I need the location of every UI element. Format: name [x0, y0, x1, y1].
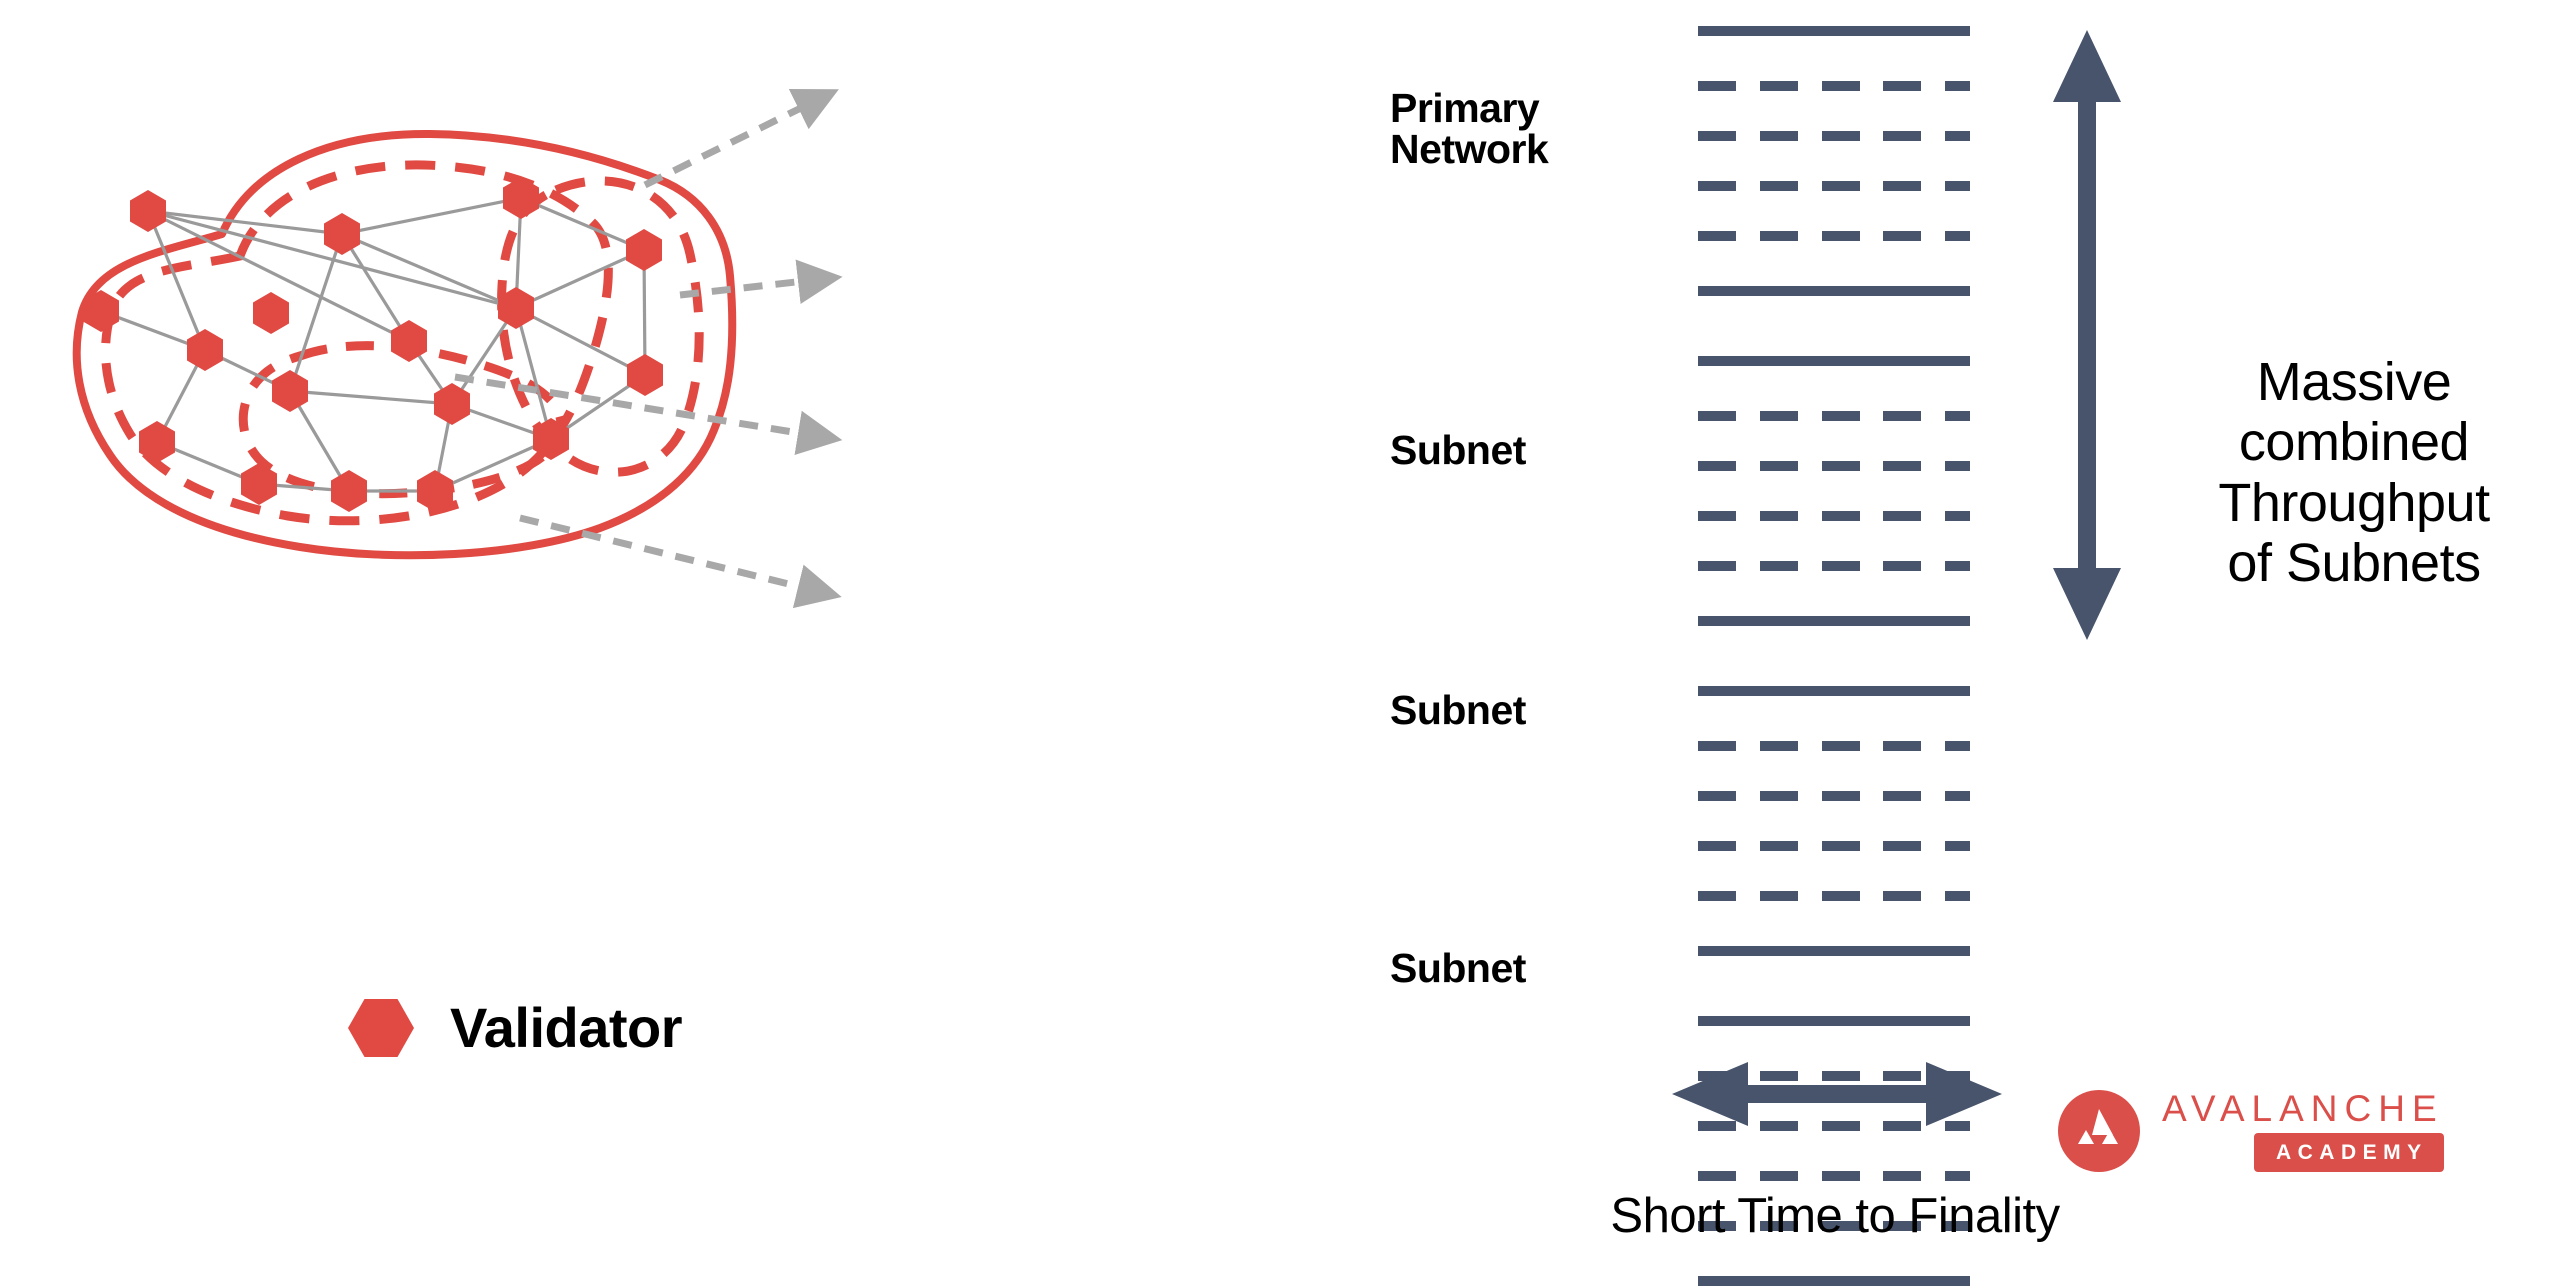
validator-node[interactable] [391, 320, 427, 362]
block-boundary-line [1698, 286, 1970, 296]
transaction-dash [1698, 791, 1736, 801]
callout-label-subnet-2: Subnet [1390, 690, 1526, 731]
transaction-dash-gap [1798, 131, 1822, 141]
hexagon-icon [348, 999, 414, 1057]
transaction-dash [1945, 561, 1970, 571]
transaction-dash [1698, 841, 1736, 851]
avalanche-triangle-icon [2058, 1090, 2140, 1172]
chain-spacer [1698, 1131, 1970, 1171]
chain-spacer [1698, 751, 1970, 791]
block-boundary-line [1698, 686, 1970, 696]
callout-label-subnet-3: Subnet [1390, 948, 1526, 989]
transaction-dash [1698, 231, 1736, 241]
horizontal-double-arrow-icon [1672, 1058, 2002, 1130]
transaction-dash [1883, 181, 1920, 191]
transaction-dash [1698, 131, 1736, 141]
transaction-dash [1698, 561, 1736, 571]
validator-network-graph [0, 0, 1300, 1000]
transaction-dash-gap [1860, 841, 1884, 851]
chain-spacer [1698, 471, 1970, 511]
finality-label: Short Time to Finality [1540, 1188, 2130, 1244]
block-boundary-line [1698, 1276, 1970, 1286]
transaction-dash [1760, 411, 1798, 421]
transaction-dash-gap [1921, 231, 1946, 241]
transaction-dash [1822, 461, 1860, 471]
transaction-dash [1822, 791, 1860, 801]
transaction-dash [1822, 181, 1860, 191]
transaction-dash [1760, 461, 1798, 471]
transaction-row [1698, 841, 1970, 851]
chain-spacer [1698, 191, 1970, 231]
validator-node[interactable] [324, 213, 360, 255]
transaction-dash-gap [1921, 461, 1946, 471]
transaction-dash [1945, 461, 1970, 471]
throughput-label: Massive combined Throughput of Subnets [2168, 352, 2540, 594]
transaction-dash [1760, 561, 1798, 571]
transaction-dash [1760, 231, 1798, 241]
subnet-outline-3 [243, 346, 561, 494]
validator-node[interactable] [241, 463, 277, 505]
chain-spacer [1698, 901, 1970, 946]
transaction-dash-gap [1798, 511, 1822, 521]
transaction-dash-gap [1860, 511, 1884, 521]
transaction-dash [1822, 891, 1860, 901]
transaction-dash-gap [1921, 181, 1946, 191]
validator-node[interactable] [626, 229, 662, 271]
transaction-dash [1760, 891, 1798, 901]
transaction-dash-gap [1860, 81, 1884, 91]
transaction-dash-gap [1921, 561, 1946, 571]
validator-node[interactable] [434, 383, 470, 425]
transaction-dash-gap [1798, 411, 1822, 421]
block-boundary-line [1698, 616, 1970, 626]
vertical-double-arrow-icon [2042, 30, 2132, 640]
transaction-dash-gap [1921, 741, 1946, 751]
transaction-dash-gap [1860, 1171, 1884, 1181]
transaction-row [1698, 1171, 1970, 1181]
transaction-dash [1883, 741, 1920, 751]
transaction-dash [1883, 511, 1920, 521]
transaction-dash [1883, 561, 1920, 571]
transaction-dash-gap [1860, 741, 1884, 751]
transaction-dash [1698, 181, 1736, 191]
transaction-dash [1822, 511, 1860, 521]
transaction-dash-gap [1736, 411, 1760, 421]
transaction-row [1698, 131, 1970, 141]
transaction-dash [1822, 841, 1860, 851]
transaction-dash [1760, 741, 1798, 751]
chain-spacer [1698, 296, 1970, 356]
transaction-dash-gap [1798, 741, 1822, 751]
transaction-dash-gap [1921, 841, 1946, 851]
transaction-dash-gap [1860, 791, 1884, 801]
transaction-dash [1945, 511, 1970, 521]
avalanche-academy-logo[interactable]: AVALANCHE ACADEMY [2058, 1090, 2444, 1172]
transaction-dash-gap [1736, 511, 1760, 521]
transaction-dash-gap [1736, 1171, 1760, 1181]
transaction-row [1698, 891, 1970, 901]
validator-node[interactable] [187, 329, 223, 371]
validator-node[interactable] [253, 292, 289, 334]
transaction-dash-gap [1921, 411, 1946, 421]
block-boundary-line [1698, 356, 1970, 366]
transaction-dash [1760, 181, 1798, 191]
chain-spacer [1698, 421, 1970, 461]
transaction-dash-gap [1798, 81, 1822, 91]
transaction-dash [1945, 131, 1970, 141]
transaction-dash [1760, 81, 1798, 91]
transaction-dash-gap [1860, 891, 1884, 901]
transaction-dash-gap [1798, 231, 1822, 241]
transaction-dash [1698, 411, 1736, 421]
transaction-row [1698, 791, 1970, 801]
transaction-dash [1822, 131, 1860, 141]
chain-spacer [1698, 626, 1970, 686]
transaction-row [1698, 511, 1970, 521]
transaction-dash-gap [1736, 231, 1760, 241]
transaction-dash [1883, 411, 1920, 421]
leader-subnet-3 [520, 518, 805, 588]
transaction-dash-gap [1860, 461, 1884, 471]
transaction-dash [1698, 461, 1736, 471]
legend: Validator [348, 995, 682, 1060]
transaction-dash-gap [1798, 791, 1822, 801]
transaction-dash-gap [1921, 131, 1946, 141]
callout-label-subnet-1: Subnet [1390, 430, 1526, 471]
transaction-dash-gap [1921, 891, 1946, 901]
transaction-dash [1698, 741, 1736, 751]
validator-node[interactable] [331, 470, 367, 512]
transaction-dash [1883, 841, 1920, 851]
transaction-dash-gap [1860, 561, 1884, 571]
transaction-dash-gap [1736, 181, 1760, 191]
chain-spacer [1698, 366, 1970, 411]
transaction-dash-gap [1798, 181, 1822, 191]
transaction-dash [1822, 231, 1860, 241]
transaction-dash [1945, 891, 1970, 901]
chain-spacer [1698, 36, 1970, 81]
transaction-dash-gap [1736, 891, 1760, 901]
transaction-dash-gap [1736, 791, 1760, 801]
transaction-dash-gap [1921, 1171, 1946, 1181]
transaction-dash [1945, 81, 1970, 91]
transaction-dash-gap [1860, 181, 1884, 191]
transaction-dash [1945, 411, 1970, 421]
chain-spacer [1698, 91, 1970, 131]
validator-node[interactable] [627, 354, 663, 396]
transaction-dash [1945, 841, 1970, 851]
block-boundary-line [1698, 26, 1970, 36]
chain-spacer [1698, 141, 1970, 181]
validator-node[interactable] [272, 370, 308, 412]
avalanche-wordmark: AVALANCHE [2162, 1090, 2444, 1127]
block-boundary-line [1698, 1016, 1970, 1026]
transaction-dash [1760, 791, 1798, 801]
transaction-dash [1945, 181, 1970, 191]
transaction-dash [1883, 131, 1920, 141]
transaction-dash [1822, 561, 1860, 571]
chain-spacer [1698, 696, 1970, 741]
transaction-dash-gap [1736, 741, 1760, 751]
transaction-dash-gap [1736, 841, 1760, 851]
transaction-dash [1883, 461, 1920, 471]
transaction-dash-gap [1736, 131, 1760, 141]
transaction-dash-gap [1798, 841, 1822, 851]
transaction-row [1698, 561, 1970, 571]
leader-primary-network [645, 106, 805, 185]
chain-spacer [1698, 801, 1970, 841]
transaction-dash [1945, 1171, 1970, 1181]
legend-label: Validator [450, 995, 682, 1060]
academy-badge: ACADEMY [2254, 1133, 2444, 1172]
transaction-dash [1760, 131, 1798, 141]
transaction-dash-gap [1860, 231, 1884, 241]
callout-label-primary-network: Primary Network [1390, 88, 1548, 170]
transaction-dash [1883, 1171, 1920, 1181]
validator-node[interactable] [130, 190, 166, 232]
transaction-dash-gap [1736, 461, 1760, 471]
chain-spacer [1698, 851, 1970, 891]
transaction-dash [1760, 841, 1798, 851]
transaction-dash [1945, 231, 1970, 241]
chain-spacer [1698, 241, 1970, 286]
transaction-dash-gap [1860, 131, 1884, 141]
transaction-dash-gap [1921, 791, 1946, 801]
transaction-dash-gap [1921, 511, 1946, 521]
transaction-row [1698, 181, 1970, 191]
transaction-dash [1883, 231, 1920, 241]
transaction-dash-gap [1736, 81, 1760, 91]
transaction-dash-gap [1860, 411, 1884, 421]
transaction-dash [1760, 511, 1798, 521]
diagram-canvas: Primary Network Subnet Subnet Subnet Val… [0, 0, 2558, 1276]
transaction-dash [1698, 511, 1736, 521]
transaction-dash [1883, 891, 1920, 901]
transaction-dash-gap [1798, 891, 1822, 901]
transaction-dash [1760, 1171, 1798, 1181]
transaction-dash [1822, 741, 1860, 751]
transaction-dash [1698, 81, 1736, 91]
transaction-row [1698, 741, 1970, 751]
transaction-row [1698, 411, 1970, 421]
block-boundary-line [1698, 946, 1970, 956]
transaction-dash-gap [1798, 461, 1822, 471]
transaction-dash [1945, 791, 1970, 801]
transaction-dash-gap [1798, 561, 1822, 571]
transaction-dash [1822, 81, 1860, 91]
transaction-row [1698, 231, 1970, 241]
transaction-dash [1883, 791, 1920, 801]
transaction-dash-gap [1798, 1171, 1822, 1181]
transaction-dash [1945, 741, 1970, 751]
transaction-dash-gap [1736, 561, 1760, 571]
transaction-dash [1698, 891, 1736, 901]
chain-spacer [1698, 521, 1970, 561]
chain-spacer [1698, 571, 1970, 616]
transaction-row [1698, 81, 1970, 91]
transaction-dash [1698, 1171, 1736, 1181]
transaction-dash [1822, 411, 1860, 421]
chain-spacer [1698, 956, 1970, 1016]
transaction-dash [1822, 1171, 1860, 1181]
transaction-dash [1883, 81, 1920, 91]
transaction-row [1698, 461, 1970, 471]
transaction-dash-gap [1921, 81, 1946, 91]
